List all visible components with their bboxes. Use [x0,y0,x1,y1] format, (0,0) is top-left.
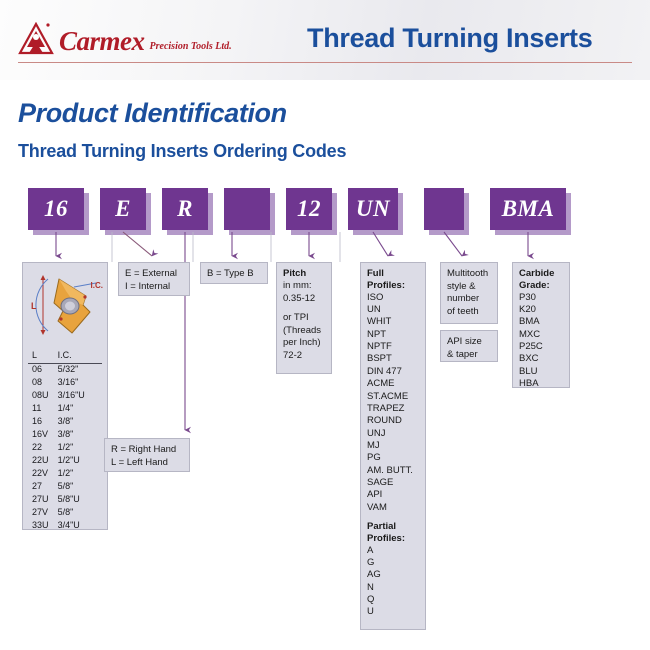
panel-line: number [447,293,491,306]
cell-ic: 5/8" [58,481,102,494]
list-item: PG [367,452,419,464]
carmex-logo: Carmex Precision Tools Ltd. [18,22,232,56]
list-item: ACME [367,378,419,390]
pitch-panel: Pitch in mm: 0.35-12 or TPI (Threads per… [276,262,332,374]
table-row: 27U5/8"U [28,494,102,507]
cell-l: 16 [28,416,58,429]
cell-l: 27V [28,507,58,520]
partial-profiles-heading: Profiles: [367,533,419,545]
table-row: 111/4" [28,403,102,416]
code-box-style[interactable] [224,188,270,230]
column-header-ic: I.C. [58,350,102,363]
panel-line: B = Type B [207,268,261,281]
panel-line: R = Right Hand [111,444,183,457]
pitch-heading: Pitch [283,268,325,280]
panel-line: & taper [447,349,491,362]
list-item: AG [367,569,419,581]
code-box-value: 16 [44,196,68,222]
header-divider [18,62,632,63]
brand-name: Carmex [59,28,145,55]
code-box-value: 12 [297,196,321,222]
list-item: BMA [519,316,563,328]
table-row: 083/16" [28,377,102,390]
page-header: Carmex Precision Tools Ltd. Thread Turni… [0,0,650,80]
list-item: K20 [519,304,563,316]
cell-l: 22V [28,468,58,481]
full-profiles-list: ISOUNWHITNPTNPTFBSPTDIN 477ACMEST.ACMETR… [367,292,419,514]
list-item: ROUND [367,415,419,427]
list-item: WHIT [367,316,419,328]
cell-ic: 3/8" [58,416,102,429]
hand-direction-panel: R = Right Hand L = Left Hand [104,438,190,472]
cell-l: 16V [28,429,58,442]
list-item: P30 [519,292,563,304]
threading-insert-illustration-icon: L I.C. [28,267,104,347]
carmex-triangle-logo-icon [18,22,54,56]
list-item: API [367,489,419,501]
panel-line: 72-2 [283,350,325,363]
insert-size-table: L I.C. 065/32"083/16"08U3/16"U111/4"163/… [28,350,102,533]
cell-l: 06 [28,363,58,376]
panel-line: (Threads [283,325,325,338]
cell-l: 27 [28,481,58,494]
partial-profiles-heading: Partial [367,521,419,533]
dimension-l-label: L [31,301,37,313]
partial-profiles-list: AGAGNQU [367,545,419,619]
cell-ic: 3/16"U [58,390,102,403]
list-item: UNJ [367,428,419,440]
carbide-grade-heading: Carbide [519,268,563,280]
table-row: 22V1/2" [28,468,102,481]
table-row: 221/2" [28,442,102,455]
list-item: BXC [519,353,563,365]
list-item: N [367,582,419,594]
table-row: 22U1/2"U [28,455,102,468]
api-size-panel: API size & taper [440,330,498,362]
list-item: BLU [519,366,563,378]
carbide-grade-panel: Carbide Grade: P30K20BMAMXCP25CBXCBLUHBA [512,262,570,388]
panel-line: Multitooth [447,268,491,281]
list-item: UN [367,304,419,316]
cell-ic: 1/2" [58,468,102,481]
list-item: ST.ACME [367,391,419,403]
panel-line: or TPI [283,312,325,325]
panel-line: E = External [125,268,183,281]
code-box-value: E [115,196,131,222]
table-row: 065/32" [28,363,102,376]
code-box-grade[interactable]: BMA [490,188,566,230]
list-item: NPT [367,329,419,341]
code-box-multitooth[interactable] [424,188,464,230]
list-item: ISO [367,292,419,304]
panel-line: per Inch) [283,337,325,350]
code-box-profile[interactable]: UN [348,188,398,230]
cell-ic: 5/8"U [58,494,102,507]
external-internal-panel: E = External I = Internal [118,262,190,296]
thread-profiles-panel: Full Profiles: ISOUNWHITNPTNPTFBSPTDIN 4… [360,262,426,630]
list-item: NPTF [367,341,419,353]
code-box-size[interactable]: 16 [28,188,84,230]
code-box-value: UN [356,196,390,222]
cell-ic: 5/32" [58,363,102,376]
multitooth-panel: Multitooth style & number of teeth [440,262,498,324]
code-box-pitch[interactable]: 12 [286,188,332,230]
panel-line: API size [447,336,491,349]
table-header-row: L I.C. [28,350,102,363]
page-title: Product Identification [18,98,287,129]
list-item: BSPT [367,353,419,365]
full-profiles-heading: Full [367,268,419,280]
cell-ic: 3/8" [58,429,102,442]
list-item: AM. BUTT. [367,465,419,477]
list-item: DIN 477 [367,366,419,378]
list-item: MJ [367,440,419,452]
cell-ic: 3/4"U [58,520,102,533]
panel-line: 0.35-12 [283,293,325,306]
brand-tagline: Precision Tools Ltd. [150,42,232,52]
table-row: 33U3/4"U [28,520,102,533]
list-item: SAGE [367,477,419,489]
table-row: 163/8" [28,416,102,429]
list-item: Q [367,594,419,606]
list-item: MXC [519,329,563,341]
cell-ic: 1/2"U [58,455,102,468]
panel-line: in mm: [283,280,325,293]
cell-l: 08 [28,377,58,390]
cell-ic: 5/8" [58,507,102,520]
panel-line: style & [447,281,491,294]
full-profiles-heading: Profiles: [367,280,419,292]
table-row: 27V5/8" [28,507,102,520]
list-item: U [367,606,419,618]
list-item: A [367,545,419,557]
table-row: 275/8" [28,481,102,494]
list-item: P25C [519,341,563,353]
insert-type-panel: B = Type B [200,262,268,284]
cell-l: 08U [28,390,58,403]
cell-l: 33U [28,520,58,533]
cell-l: 22 [28,442,58,455]
list-item: G [367,557,419,569]
cell-l: 22U [28,455,58,468]
panel-line: L = Left Hand [111,457,183,470]
insert-spec-panel: L I.C. L I.C. 065/32"083/16"08U3/16"U111… [22,262,108,530]
page-subtitle: Thread Turning Inserts Ordering Codes [18,141,346,162]
code-box-value: R [177,196,193,222]
cell-ic: 3/16" [58,377,102,390]
code-box-type[interactable]: E [100,188,146,230]
cell-ic: 1/4" [58,403,102,416]
carbide-grade-heading: Grade: [519,280,563,292]
column-header-l: L [28,350,58,363]
cell-l: 11 [28,403,58,416]
code-box-value: BMA [502,196,555,222]
list-item: VAM [367,502,419,514]
table-row: 16V3/8" [28,429,102,442]
panel-line: of teeth [447,306,491,319]
cell-l: 27U [28,494,58,507]
carbide-grade-list: P30K20BMAMXCP25CBXCBLUHBA [519,292,563,391]
list-item: TRAPEZ [367,403,419,415]
dimension-ic-label: I.C. [91,281,103,292]
header-title: Thread Turning Inserts [307,23,592,54]
panel-line: I = Internal [125,281,183,294]
code-box-hand[interactable]: R [162,188,208,230]
cell-ic: 1/2" [58,442,102,455]
table-row: 08U3/16"U [28,390,102,403]
list-item: HBA [519,378,563,390]
